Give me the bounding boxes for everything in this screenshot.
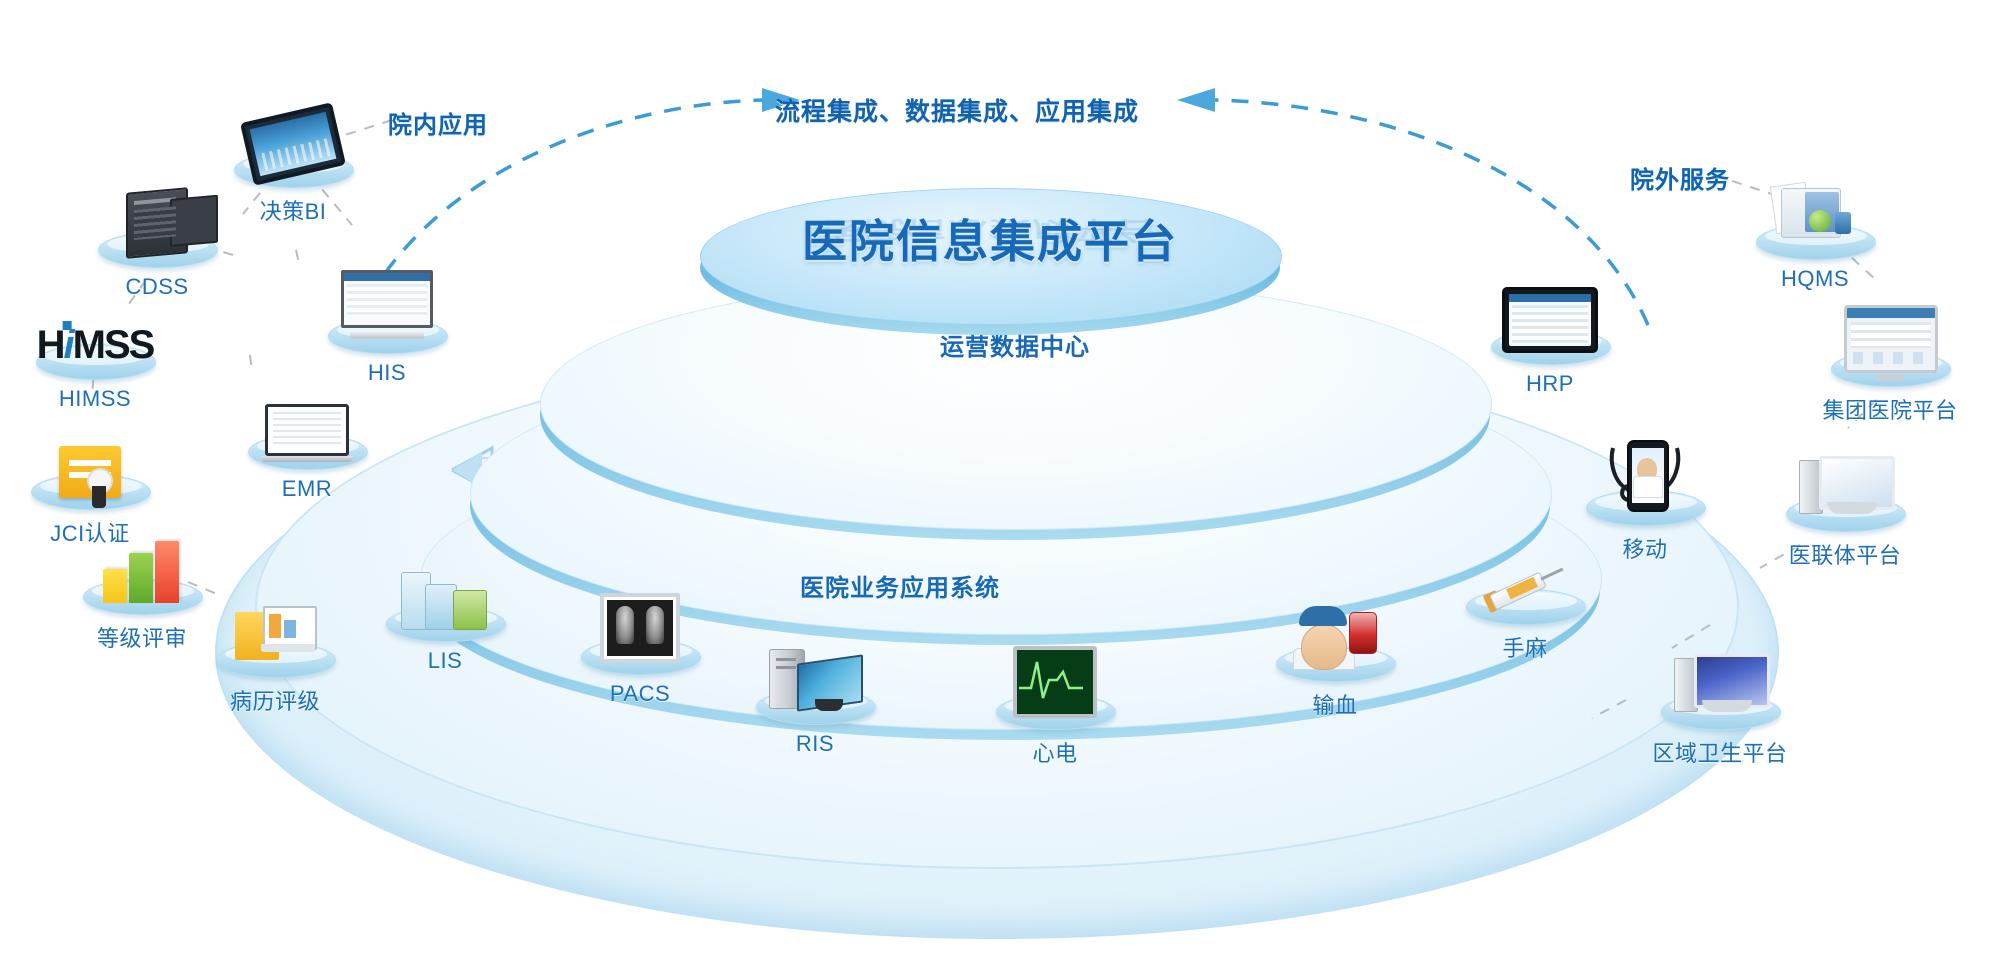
desktop-monitor-icon	[341, 270, 433, 342]
blood-transfusion-icon	[1293, 606, 1377, 670]
node-anesthesia[interactable]: 手麻	[1440, 555, 1610, 663]
node-ecg[interactable]: 心电	[970, 660, 1140, 768]
document-folder-icon	[1769, 184, 1861, 248]
node-transfusion[interactable]: 输血	[1250, 612, 1420, 720]
node-label: 心电	[970, 736, 1140, 768]
node-label: HIS	[302, 360, 472, 386]
pc-tower-monitor-icon	[769, 647, 861, 713]
node-label: 集团医院平台	[1805, 393, 1975, 425]
node-label: 医联体平台	[1760, 538, 1930, 570]
external-services-label: 院外服务	[1630, 160, 1730, 195]
node-label: RIS	[730, 731, 900, 757]
node-label: HRP	[1465, 371, 1635, 397]
node-label: 输血	[1250, 688, 1420, 720]
blue-lcd-monitor-icon	[1674, 654, 1766, 718]
node-jci[interactable]: JCI认证	[5, 440, 175, 548]
node-hqms[interactable]: HQMS	[1730, 190, 1900, 292]
node-label: 病历评级	[190, 684, 360, 716]
node-ris[interactable]: RIS	[730, 655, 900, 757]
node-label: HQMS	[1730, 266, 1900, 292]
lcd-monitor-icon	[1799, 456, 1891, 520]
bar-chart-icon	[103, 541, 181, 603]
tablet-icon	[246, 112, 340, 176]
node-his[interactable]: HIS	[302, 268, 472, 386]
node-label: PACS	[555, 681, 725, 707]
server-icon	[126, 190, 188, 256]
crt-monitor-icon	[1844, 305, 1936, 375]
node-pacs[interactable]: PACS	[555, 605, 725, 707]
node-label: LIS	[360, 648, 530, 674]
integration-heading: 流程集成、数据集成、应用集成	[775, 92, 1139, 128]
himss-logo-icon: HiMSS	[37, 323, 154, 368]
node-medical-alliance-platform[interactable]: 医联体平台	[1760, 462, 1930, 570]
mobile-stethoscope-icon	[1597, 440, 1693, 514]
node-label: 移动	[1560, 532, 1730, 564]
node-label: CDSS	[72, 274, 242, 300]
node-label: HIMSS	[10, 386, 180, 412]
certificate-icon	[59, 446, 121, 498]
node-record-rating[interactable]: 病历评级	[190, 608, 360, 716]
diagram-canvas: 基础数据中心 临床数据中心 运营数据中心 医院信息集成平台 医院信息集成平台 医…	[0, 0, 2000, 955]
node-group-hospital-platform[interactable]: 集团医院平台	[1805, 305, 1975, 425]
node-mobile[interactable]: 移动	[1560, 440, 1730, 564]
node-cdss[interactable]: CDSS	[72, 198, 242, 300]
internal-apps-label: 院内应用	[388, 105, 488, 140]
chart-document-icon	[235, 606, 315, 666]
node-regional-health-platform[interactable]: 区域卫生平台	[1635, 660, 1805, 768]
node-lis[interactable]: LIS	[360, 572, 530, 674]
node-label: 区域卫生平台	[1635, 736, 1805, 768]
node-hrp[interactable]: HRP	[1465, 283, 1635, 397]
ecg-monitor-icon	[1013, 646, 1097, 718]
node-label: EMR	[222, 476, 392, 502]
laptop-icon	[265, 404, 349, 458]
xray-monitor-icon	[600, 593, 680, 663]
tablet-screen-icon	[1502, 287, 1598, 353]
syringe-icon	[1482, 557, 1568, 613]
node-label: 手麻	[1440, 631, 1610, 663]
page-title: 医院信息集成平台	[700, 205, 1280, 270]
node-himss[interactable]: HiMSS HIMSS	[10, 310, 180, 412]
lab-sample-icon	[401, 566, 489, 630]
node-emr[interactable]: EMR	[222, 400, 392, 502]
